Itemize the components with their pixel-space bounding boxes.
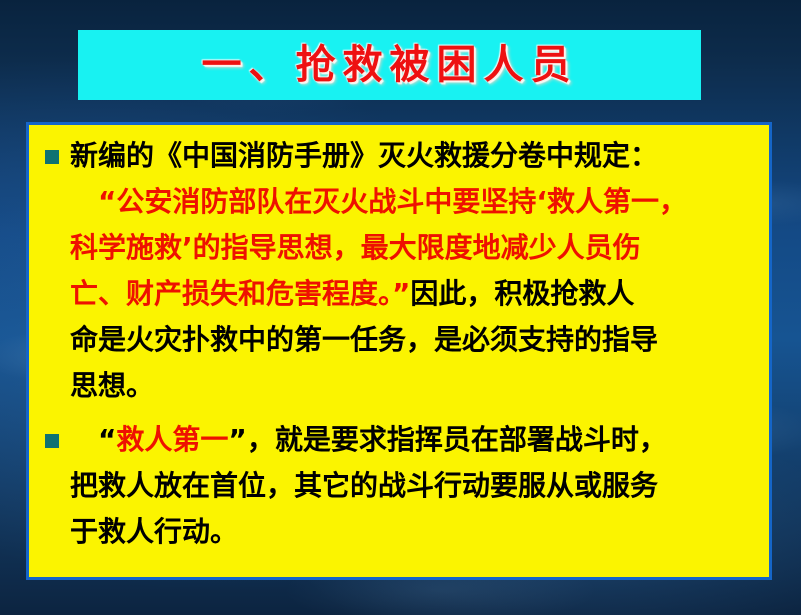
text-run-red: 科学施救’的指导思想，最大限度地减少人员伤 — [70, 231, 641, 264]
text-run-red: 亡、财产损失和危害程度。” — [70, 277, 410, 310]
text-line: “公安消防部队在灭火战斗中要坚持‘救人第一， — [70, 179, 763, 225]
text-line: “救人第一”，就是要求指挥员在部署战斗时， — [70, 417, 763, 463]
text-run-black: 于救人行动。 — [70, 515, 238, 548]
page-title: 一、抢救被困人员 — [202, 45, 578, 85]
text-line: 把救人放在首位，其它的战斗行动要服从或服务 — [70, 463, 763, 509]
text-run-black: ”，就是要求指挥员在部署战斗时， — [228, 423, 666, 456]
text-run-red: “公安消防部队在灭火战斗中要坚持‘救人第一， — [70, 185, 687, 218]
text-run-black: 把救人放在首位，其它的战斗行动要服从或服务 — [70, 469, 658, 502]
text-line: 命是火灾扑救中的第一任务，是必须支持的指导 — [70, 317, 763, 363]
slide-canvas: 一、抢救被困人员 新编的《中国消防手册》灭火救援分卷中规定： “公安消防部队在灭… — [0, 0, 801, 615]
content-panel: 新编的《中国消防手册》灭火救援分卷中规定： “公安消防部队在灭火战斗中要坚持‘救… — [26, 122, 772, 580]
bullet-item-1: 新编的《中国消防手册》灭火救援分卷中规定： “公安消防部队在灭火战斗中要坚持‘救… — [35, 133, 763, 409]
bullet-item-1-text: 新编的《中国消防手册》灭火救援分卷中规定： “公安消防部队在灭火战斗中要坚持‘救… — [70, 133, 763, 409]
square-bullet-icon — [45, 150, 59, 164]
text-run-black: 因此，积极抢救人 — [410, 277, 634, 310]
text-line: 思想。 — [70, 363, 763, 409]
text-line: 于救人行动。 — [70, 509, 763, 555]
text-run-red: 救人第一 — [116, 423, 228, 456]
title-banner: 一、抢救被困人员 — [78, 30, 701, 100]
text-line: 新编的《中国消防手册》灭火救援分卷中规定： — [70, 133, 763, 179]
square-bullet-icon — [45, 434, 59, 448]
bullet-item-2-text: “救人第一”，就是要求指挥员在部署战斗时，把救人放在首位，其它的战斗行动要服从或… — [70, 417, 763, 555]
text-line: 亡、财产损失和危害程度。”因此，积极抢救人 — [70, 271, 763, 317]
text-run-black: 新编的《中国消防手册》灭火救援分卷中规定： — [70, 139, 658, 172]
text-line: 科学施救’的指导思想，最大限度地减少人员伤 — [70, 225, 763, 271]
text-run-black: 命是火灾扑救中的第一任务，是必须支持的指导 — [70, 323, 658, 356]
text-run-black: “ — [70, 423, 116, 456]
bullet-item-2: “救人第一”，就是要求指挥员在部署战斗时，把救人放在首位，其它的战斗行动要服从或… — [35, 417, 763, 555]
text-run-black: 思想。 — [70, 369, 154, 402]
